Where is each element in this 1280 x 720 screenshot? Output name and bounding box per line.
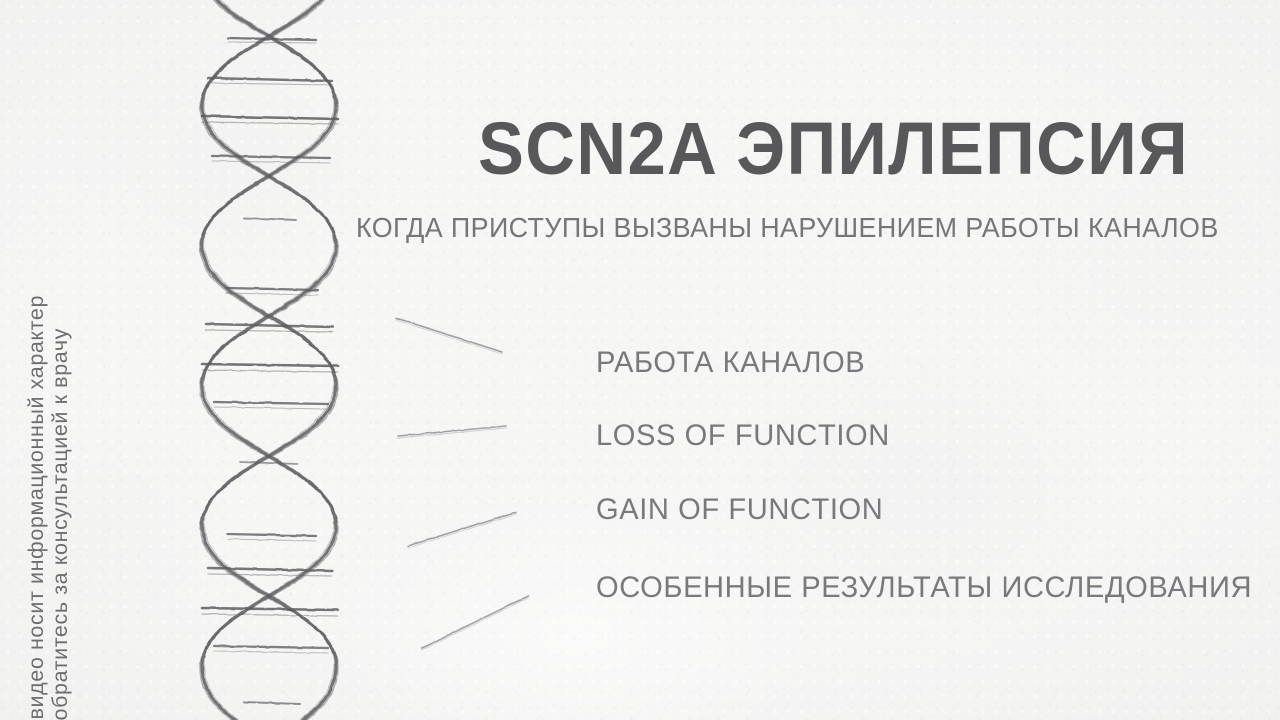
page-subtitle: КОГДА ПРИСТУПЫ ВЫЗВАНЫ НАРУШЕНИЕМ РАБОТЫ… (356, 212, 1219, 244)
disclaimer-line-2: обратитесь за консультацией к врачу (50, 266, 72, 720)
disclaimer-line-1: видео носит информационный характер (26, 233, 48, 720)
leader-line-2 (398, 426, 506, 436)
topic-item-loss-of-function: LOSS OF FUNCTION (596, 419, 890, 453)
leader-line-1 (396, 318, 502, 352)
disclaimer-block: видео носит информационный характер обра… (26, 0, 146, 720)
topic-item-gain-of-function: GAIN OF FUNCTION (596, 493, 883, 527)
leader-line-4 (422, 596, 528, 648)
topic-item-special-study-results: ОСОБЕННЫЕ РЕЗУЛЬТАТЫ ИССЛЕДОВАНИЯ (596, 571, 1252, 605)
slide-canvas: видео носит информационный характер обра… (0, 0, 1280, 720)
leader-line-3 (408, 512, 516, 546)
topic-item-channel-function: РАБОТА КАНАЛОВ (596, 346, 865, 380)
dna-helix-illustration (140, 0, 390, 720)
pencil-leader-lines (380, 290, 600, 680)
page-title: SCN2A ЭПИЛЕПСИЯ (478, 106, 1189, 191)
